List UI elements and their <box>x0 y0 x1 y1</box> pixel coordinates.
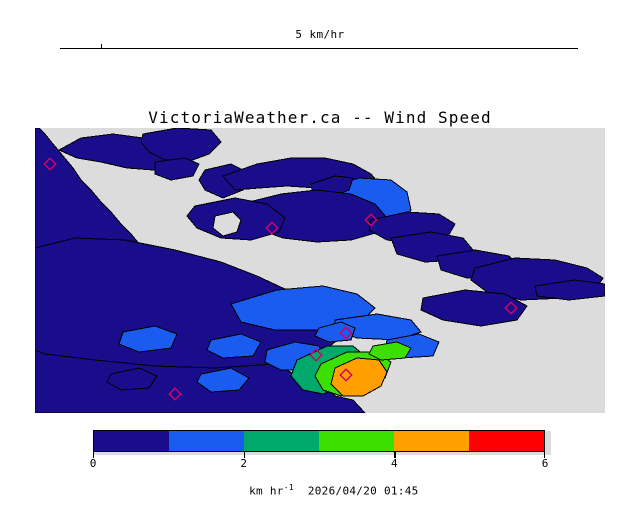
map-canvas <box>35 128 605 413</box>
scale-bar-tick <box>101 44 102 49</box>
timestamp: 2026/04/20 01:45 <box>308 485 419 498</box>
colorbar-segment-1-2[interactable] <box>169 431 244 451</box>
colorbar-units: km hr <box>249 485 284 498</box>
wind-vector-scale: 5 km/hr <box>0 28 640 62</box>
scale-bar-label: 5 km/hr <box>0 28 640 41</box>
caption-gap <box>294 485 308 498</box>
colorbar-tick-label-0: 0 <box>90 457 97 470</box>
colorbar-tick-label-6: 6 <box>542 457 549 470</box>
colorbar-swatches[interactable] <box>93 430 545 452</box>
colorbar-segment-3-4[interactable] <box>319 431 394 451</box>
colorbar-units-exponent: -1 <box>284 483 294 492</box>
colorbar-legend: 0246 km hr-1 2026/04/20 01:45 <box>0 426 640 480</box>
colorbar-segment-0-1[interactable] <box>94 431 169 451</box>
colorbar-segment-2-3[interactable] <box>244 431 319 451</box>
colorbar-tick-label-2: 2 <box>240 457 247 470</box>
page-title: VictoriaWeather.ca -- Wind Speed <box>0 108 640 127</box>
wind-speed-map[interactable] <box>35 128 605 413</box>
colorbar-tick-label-4: 4 <box>391 457 398 470</box>
scale-bar-line <box>60 48 578 49</box>
colorbar-caption: km hr-1 2026/04/20 01:45 <box>0 470 640 511</box>
colorbar-segment-5-6[interactable] <box>469 431 544 451</box>
colorbar-segment-4-5[interactable] <box>394 431 469 451</box>
colorbar-tick-labels: 0246 <box>93 457 545 471</box>
